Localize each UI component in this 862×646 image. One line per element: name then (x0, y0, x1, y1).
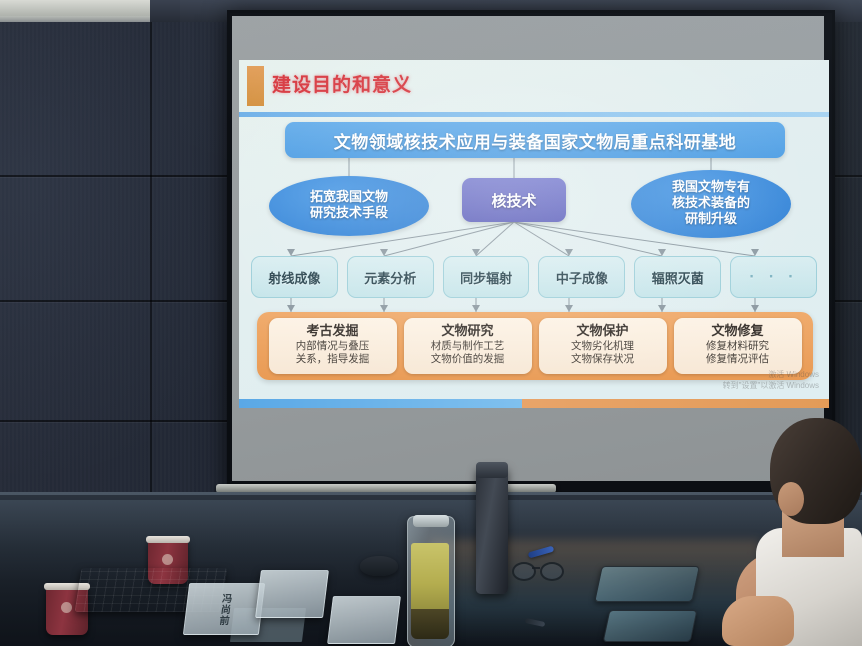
eyeglass-lens (540, 562, 564, 581)
technique-box: 中子成像 (538, 256, 625, 298)
eyeglasses (512, 560, 570, 580)
name-placard (327, 596, 401, 644)
core-technology-box: 核技术 (462, 178, 566, 222)
technique-label: 辐照灭菌 (652, 268, 704, 287)
wall-seam (0, 175, 227, 177)
table-edge (0, 492, 862, 495)
goal-right-line-1: 我国文物专有 (672, 180, 750, 196)
application-line: 文物劣化机理 (571, 340, 634, 354)
wall-edge (150, 22, 152, 492)
application-line: 修复情况评估 (706, 353, 769, 367)
placard-name: 冯尚前 (214, 593, 233, 626)
paper-cup-logo (162, 554, 173, 565)
application-line: 内部情况与叠压 (296, 340, 370, 354)
slide-title: 建设目的和意义 (272, 70, 412, 97)
eyeglass-bridge (532, 567, 540, 569)
mouse[interactable] (360, 556, 398, 576)
flask-cap (413, 515, 449, 527)
thermos (476, 466, 508, 594)
core-technology-label: 核技术 (491, 190, 536, 211)
technique-box: 射线成像 (251, 256, 338, 298)
slide-footer-bar (239, 399, 829, 408)
goal-ellipse-left: 拓宽我国文物 研究技术手段 (269, 176, 429, 236)
wall-seam (0, 300, 227, 302)
slide-header-label: 文物领域核技术应用与装备国家文物局重点科研基地 (334, 128, 737, 153)
title-divider (239, 112, 829, 117)
technique-label: 中子成像 (556, 268, 608, 287)
technique-box: 辐照灭菌 (634, 256, 721, 298)
application-box: 考古发掘 内部情况与叠压 关系，指导发掘 (269, 318, 397, 374)
technique-label: 同步辐射 (460, 268, 512, 287)
application-line: 关系，指导发掘 (296, 353, 370, 367)
application-title: 文物研究 (441, 325, 493, 340)
application-title: 文物修复 (711, 325, 763, 340)
ellipsis-label: · · · (749, 270, 798, 285)
flask-tea (411, 543, 449, 617)
slide-header-box: 文物领域核技术应用与装备国家文物局重点科研基地 (285, 122, 785, 158)
tablet-device[interactable] (603, 610, 698, 642)
application-box: 文物研究 材质与制作工艺 文物价值的发掘 (404, 318, 532, 374)
application-box: 文物修复 修复材料研究 修复情况评估 (674, 318, 802, 374)
eyeglass-lens (512, 562, 536, 581)
watermark-line-2: 转到"设置"以激活 Windows (723, 381, 819, 392)
technique-label: 射线成像 (268, 268, 320, 287)
technique-label: 元素分析 (364, 268, 416, 287)
technique-box-more: · · · (730, 256, 817, 298)
goal-left-line-2: 研究技术手段 (310, 206, 388, 222)
windows-activation-watermark: 激活 Windows 转到"设置"以激活 Windows (723, 370, 819, 392)
application-title: 文物保护 (576, 325, 628, 340)
goal-right-line-2: 核技术装备的 (672, 196, 750, 212)
technique-box: 同步辐射 (443, 256, 530, 298)
flask-tea-leaves (411, 609, 449, 639)
application-line: 修复材料研究 (706, 340, 769, 354)
application-line: 文物保存状况 (571, 353, 634, 367)
conference-room-scene: 建设目的和意义 文物领域核技术应用与装备国家文物局重点科研基地 拓宽我国文物 研… (0, 0, 862, 646)
thermos-cap (476, 462, 508, 478)
paper-cup-logo (61, 602, 72, 613)
tablet-device[interactable] (594, 566, 700, 602)
watermark-line-1: 激活 Windows (723, 370, 819, 381)
application-line: 材质与制作工艺 (431, 340, 505, 354)
slide-title-band: 建设目的和意义 (239, 66, 829, 106)
technique-box: 元素分析 (347, 256, 434, 298)
name-placard: 冯尚前 (183, 583, 265, 635)
paper-cup-rim (146, 536, 190, 543)
tea-flask (407, 516, 455, 646)
goal-left-line-1: 拓宽我国文物 (310, 190, 388, 206)
person-ear (778, 482, 804, 516)
presentation-slide: 建设目的和意义 文物领域核技术应用与装备国家文物局重点科研基地 拓宽我国文物 研… (239, 60, 829, 408)
title-accent-bar (247, 66, 264, 106)
goal-right-line-3: 研制升级 (672, 212, 750, 228)
wall-seam (0, 420, 227, 422)
application-line: 文物价值的发掘 (431, 353, 505, 367)
person-hand (722, 596, 794, 646)
goal-ellipse-right: 我国文物专有 核技术装备的 研制升级 (631, 170, 791, 238)
application-title: 考古发掘 (306, 325, 358, 340)
application-box: 文物保护 文物劣化机理 文物保存状况 (539, 318, 667, 374)
name-placard (255, 570, 329, 618)
technique-row: 射线成像 元素分析 同步辐射 中子成像 辐照灭菌 · · · (251, 256, 817, 298)
